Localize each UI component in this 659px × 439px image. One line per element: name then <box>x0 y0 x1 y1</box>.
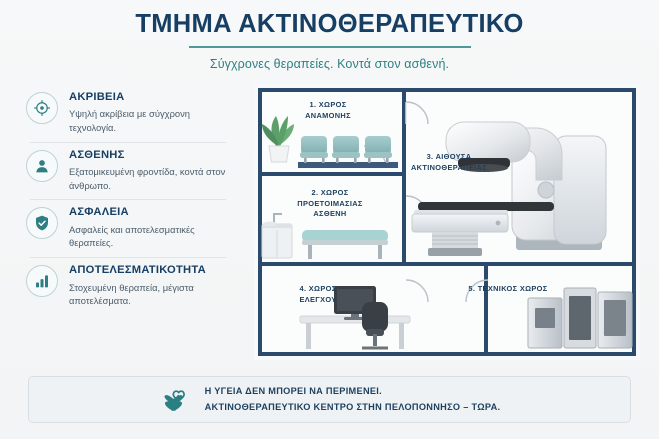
feature-text: ΑΣΦΑΛΕΙΑ Ασφαλείς και αποτελεσματικές θε… <box>69 205 237 250</box>
floorplan: 1. ΧΩΡΟΣ ΑΝΑΜΟΝΗΣ 2. ΧΩΡΟΣ ΠΡΟΕΤΟΙΜΑΣΙΑΣ… <box>254 84 640 360</box>
room-label-3: 3. ΑΙΘΟΥΣΑ ΑΚΤΙΝΟΘΕΡΑΠΕΙΑΣ <box>394 152 504 173</box>
feature-item-precision: ΑΚΡΙΒΕΙΑ Υψηλή ακρίβεια με σύγχρονη τεχν… <box>26 84 250 142</box>
header: ΤΜΗΜΑ ΑΚΤΙΝΟΘΕΡΑΠΕΥΤΙΚΟ Σύγχρονες θεραπε… <box>0 0 659 71</box>
feature-item-effectiveness: ΑΠΟΤΕΛΕΣΜΑΤΙΚΟΤΗΤΑ Στοχευμένη θεραπεία, … <box>26 257 250 315</box>
footer-line-2: ΑΚΤΙΝΟΘΕΡΑΠΕΥΤΙΚΟ ΚΕΝΤΡΟ ΣΤΗΝ ΠΕΛΟΠΟΝΝΗΣ… <box>205 400 501 415</box>
room-label-5: 5. ΤΕΧΝΙΚΟΣ ΧΩΡΟΣ <box>446 284 570 295</box>
room-label-1: 1. ΧΩΡΟΣ ΑΝΑΜΟΝΗΣ <box>272 100 384 121</box>
room-label-2: 2. ΧΩΡΟΣ ΠΡΟΕΤΟΙΜΑΣΙΑΣ ΑΣΘΕΝΗ <box>262 188 398 220</box>
waiting-chairs <box>298 136 398 168</box>
feature-description: Ασφαλείς και αποτελεσματικές θεραπείες. <box>69 223 237 250</box>
target-icon <box>26 92 58 124</box>
footer-cta-banner: Η ΥΓΕΙΑ ΔΕΝ ΜΠΟΡΕΙ ΝΑ ΠΕΡΙΜΕΝΕΙ. ΑΚΤΙΝΟΘ… <box>28 376 631 423</box>
feature-title: ΑΣΘΕΝΗΣ <box>69 149 237 162</box>
feature-text: ΑΣΘΕΝΗΣ Εξατομικευμένη φροντίδα, κοντά σ… <box>69 148 237 193</box>
feature-title: ΑΠΟΤΕΛΕΣΜΑΤΙΚΟΤΗΤΑ <box>69 264 237 277</box>
heart-in-hands-icon <box>159 385 191 415</box>
page-subtitle: Σύγχρονες θεραπείες. Κοντά στον ασθενή. <box>0 57 659 71</box>
feature-item-patient: ΑΣΘΕΝΗΣ Εξατομικευμένη φροντίδα, κοντά σ… <box>26 142 250 200</box>
feature-title: ΑΣΦΑΛΕΙΑ <box>69 206 237 219</box>
floorplan-svg <box>254 84 640 360</box>
person-icon <box>26 150 58 182</box>
bar-chart-icon <box>26 265 58 297</box>
room-label-4: 4. ΧΩΡΟΣ ΕΛΕΓΧΟΥ <box>266 284 370 305</box>
page-title: ΤΜΗΜΑ ΑΚΤΙΝΟΘΕΡΑΠΕΥΤΙΚΟ <box>0 10 659 38</box>
feature-description: Εξατομικευμένη φροντίδα, κοντά στον άνθρ… <box>69 165 237 192</box>
feature-list: ΑΚΡΙΒΕΙΑ Υψηλή ακρίβεια με σύγχρονη τεχν… <box>0 84 250 364</box>
feature-text: ΑΚΡΙΒΕΙΑ Υψηλή ακρίβεια με σύγχρονη τεχν… <box>69 90 237 135</box>
footer-line-1: Η ΥΓΕΙΑ ΔΕΝ ΜΠΟΡΕΙ ΝΑ ΠΕΡΙΜΕΝΕΙ. <box>205 384 501 399</box>
feature-description: Υψηλή ακρίβεια με σύγχρονη τεχνολογία. <box>69 107 237 134</box>
feature-title: ΑΚΡΙΒΕΙΑ <box>69 91 237 104</box>
feature-text: ΑΠΟΤΕΛΕΣΜΑΤΙΚΟΤΗΤΑ Στοχευμένη θεραπεία, … <box>69 263 237 308</box>
feature-description: Στοχευμένη θεραπεία, μέγιστα αποτελέσματ… <box>69 281 237 308</box>
title-divider <box>189 46 471 48</box>
feature-item-safety: ΑΣΦΑΛΕΙΑ Ασφαλείς και αποτελεσματικές θε… <box>26 199 250 257</box>
body-row: ΑΚΡΙΒΕΙΑ Υψηλή ακρίβεια με σύγχρονη τεχν… <box>0 84 659 364</box>
shield-check-icon <box>26 207 58 239</box>
infographic-page: ΤΜΗΜΑ ΑΚΤΙΝΟΘΕΡΑΠΕΥΤΙΚΟ Σύγχρονες θεραπε… <box>0 0 659 439</box>
footer-text: Η ΥΓΕΙΑ ΔΕΝ ΜΠΟΡΕΙ ΝΑ ΠΕΡΙΜΕΝΕΙ. ΑΚΤΙΝΟΘ… <box>205 384 501 414</box>
